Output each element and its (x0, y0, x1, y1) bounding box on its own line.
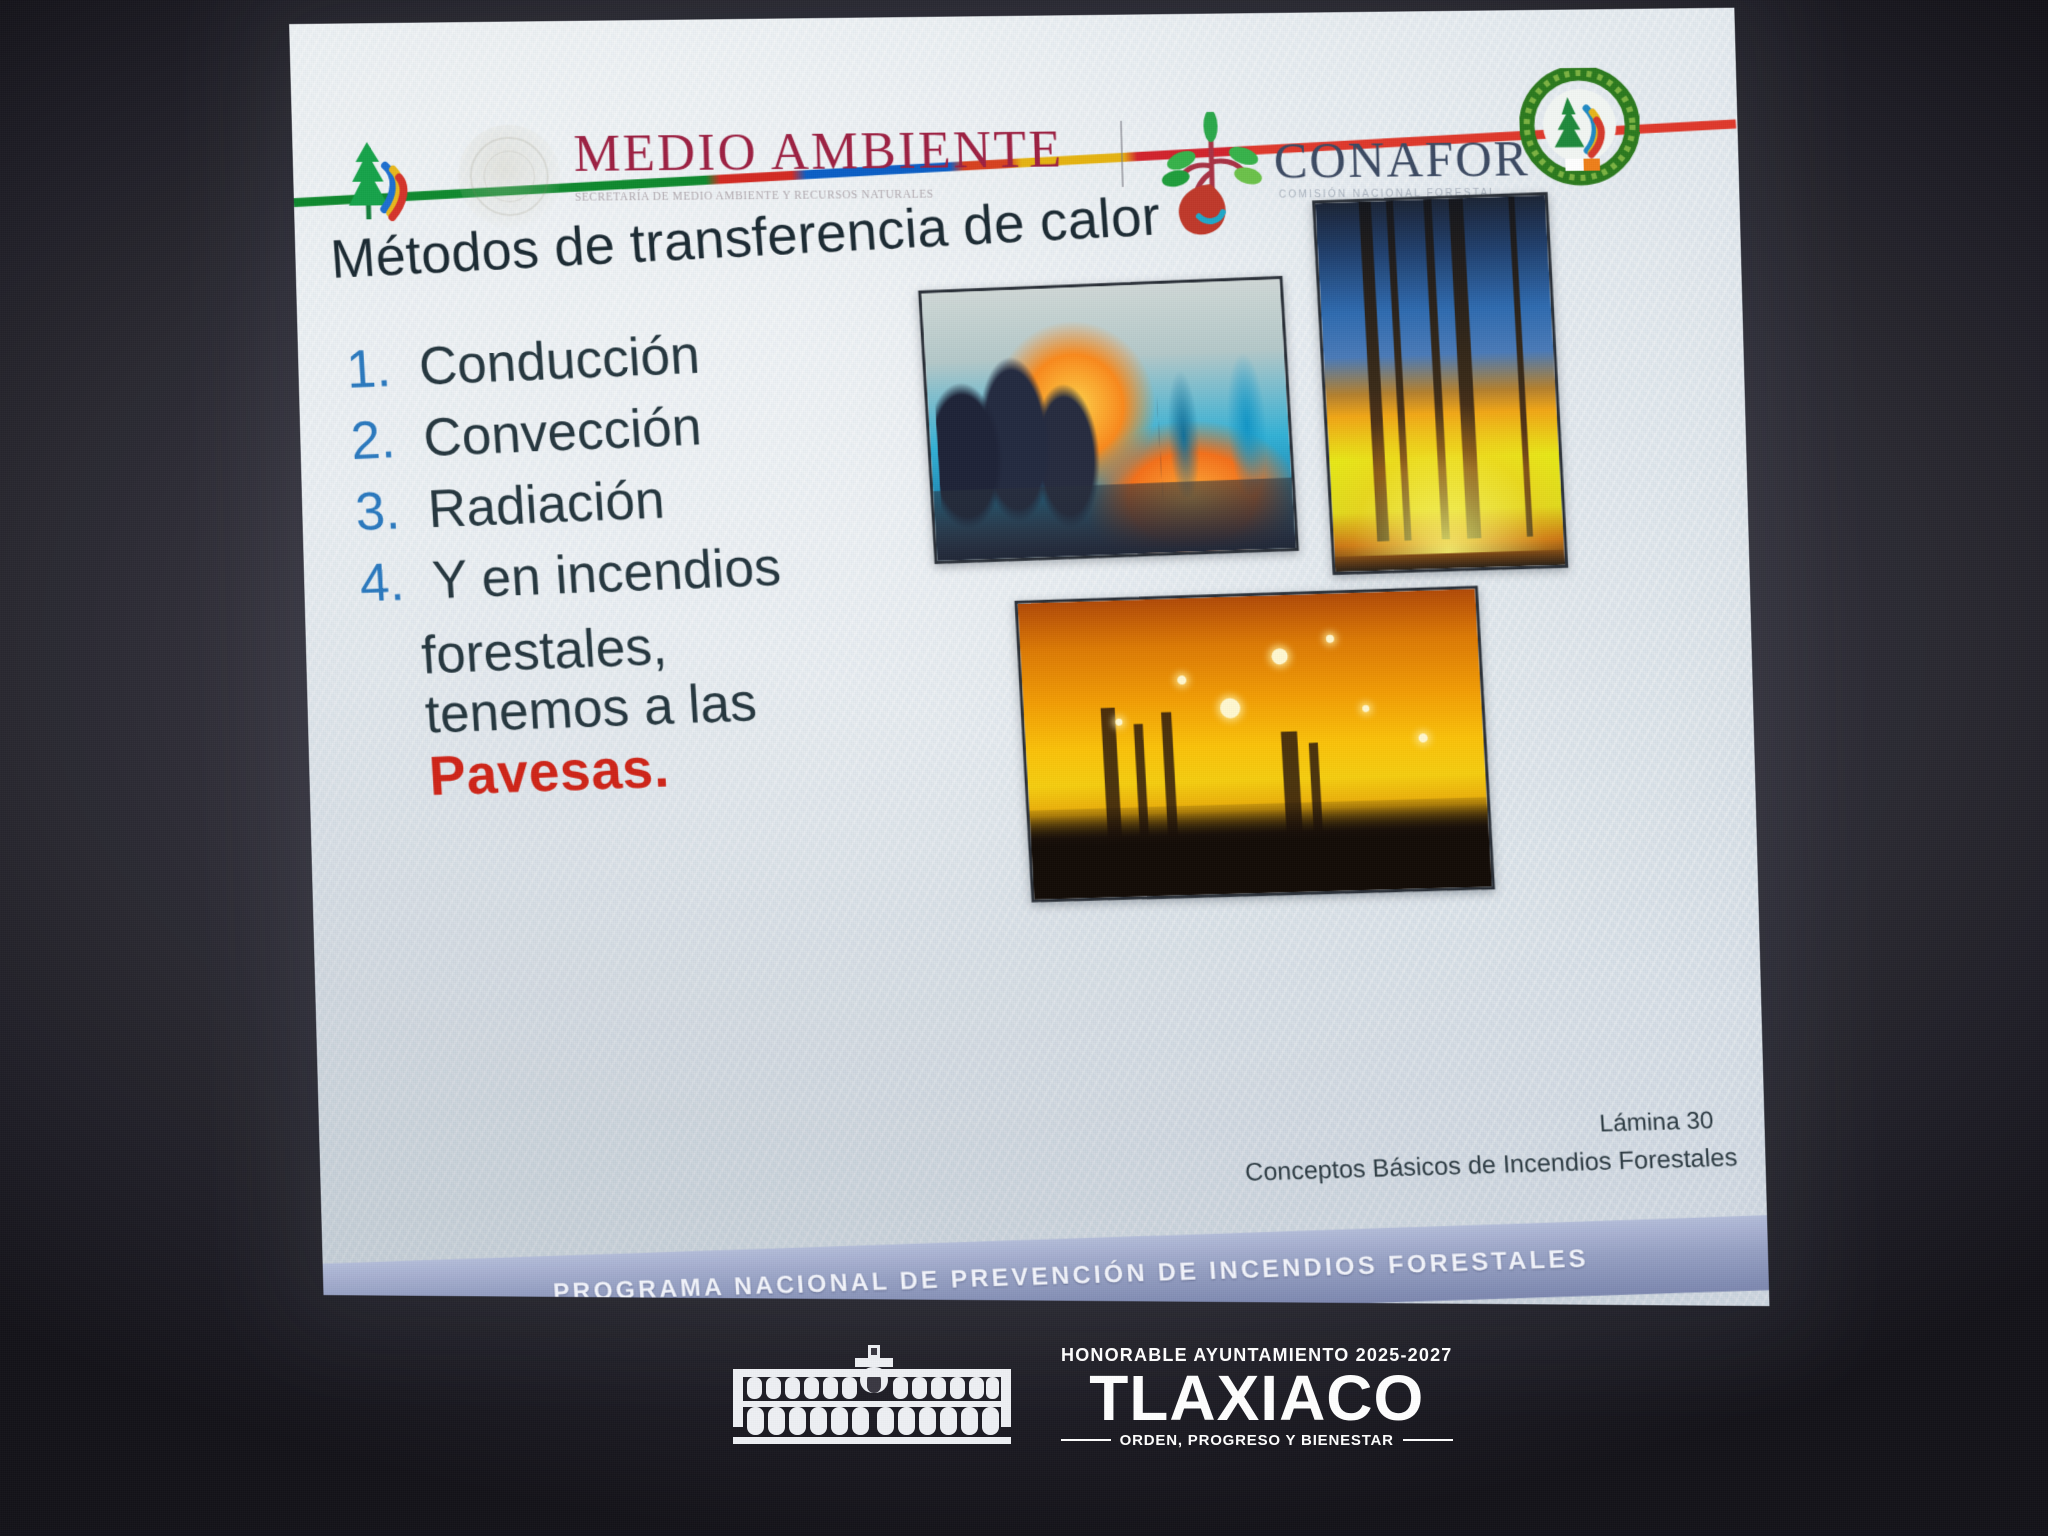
list-item-number: 4. (358, 553, 434, 611)
list-item-number: 1. (345, 339, 421, 398)
header-divider (1120, 121, 1124, 187)
agency-title: CONAFOR (1273, 129, 1530, 190)
list-item-label: Conducción (417, 327, 701, 395)
slogan-text: ORDEN, PROGRESO Y BIENESTAR (1120, 1432, 1394, 1449)
tlaxiaco-branding: HONORABLE AYUNTAMIENTO 2025-2027 TLAXIAC… (727, 1333, 1327, 1461)
heat-transfer-list: 1. Conducción 2. Convección 3. Radiación… (345, 318, 927, 809)
pine-tree-ribbon-logo (333, 136, 416, 222)
tlaxiaco-wordmark: HONORABLE AYUNTAMIENTO 2025-2027 TLAXIAC… (1061, 1345, 1453, 1448)
photo-embers-pavesas (1014, 586, 1495, 903)
slide-number-caption: Lámina 30 (1599, 1107, 1715, 1139)
list-item-number: 2. (349, 411, 425, 470)
ministry-title: MEDIO AMBIENTE (573, 123, 1064, 180)
list-item: 3. Radiación (354, 462, 910, 540)
slogan-row: ORDEN, PROGRESO Y BIENESTAR (1061, 1432, 1453, 1449)
slogan-rule-right (1403, 1439, 1453, 1441)
conafor-circular-emblem (1518, 67, 1641, 187)
list-item: 4. Y en incendios (358, 534, 914, 612)
conafor-tree-icon (1152, 111, 1274, 238)
presentation-slide: MEDIO AMBIENTE SECRETARÍA DE MEDIO AMBIE… (289, 8, 1769, 1306)
list-item: 2. Convección (349, 390, 905, 469)
slogan-rule-left (1061, 1439, 1111, 1441)
list-item-label: Y en incendios (431, 539, 783, 609)
list-item-label: Radiación (426, 472, 666, 537)
photo-scene: MEDIO AMBIENTE SECRETARÍA DE MEDIO AMBIE… (0, 0, 2048, 1536)
photo-burning-pine-trunks (1312, 192, 1568, 575)
list-item-label: Convección (422, 399, 703, 466)
photo-forest-fire-trees (918, 276, 1299, 564)
slide-footer-banner: PROGRAMA NACIONAL DE PREVENCIÓN DE INCEN… (289, 1211, 1769, 1306)
municipal-palace-icon (727, 1345, 1017, 1449)
footer-banner-text: PROGRAMA NACIONAL DE PREVENCIÓN DE INCEN… (552, 1244, 1589, 1306)
projection-screen: MEDIO AMBIENTE SECRETARÍA DE MEDIO AMBIE… (289, 8, 1769, 1306)
course-caption: Conceptos Básicos de Incendios Forestale… (1244, 1143, 1738, 1187)
municipality-name: TLAXIACO (1089, 1368, 1424, 1428)
list-item-number: 3. (354, 482, 430, 541)
list-item: 1. Conducción (345, 318, 901, 398)
mexico-government-seal (457, 124, 562, 228)
